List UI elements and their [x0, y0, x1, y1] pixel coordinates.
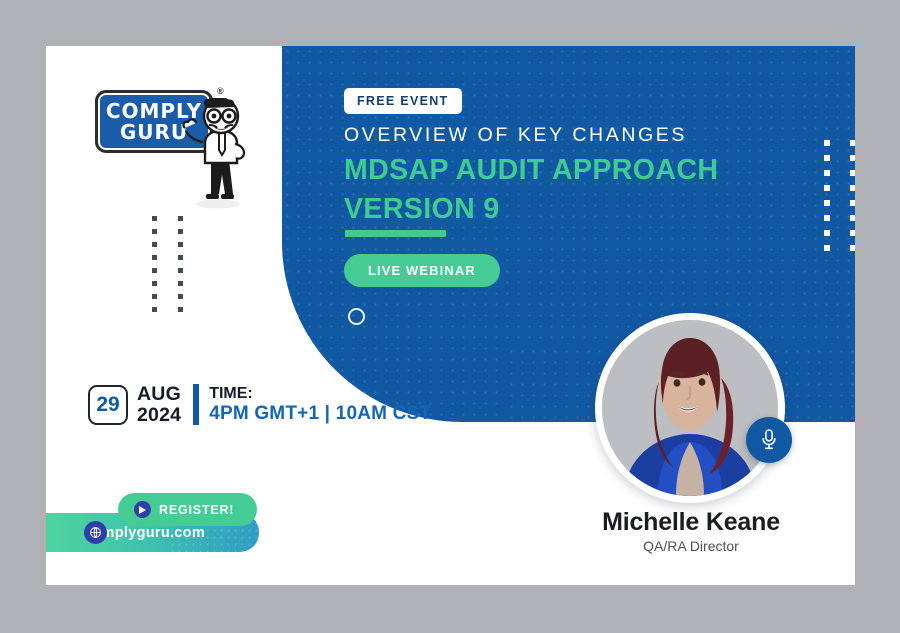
globe-icon [84, 521, 107, 544]
microphone-icon [746, 417, 792, 463]
event-month-year: AUG 2024 [137, 384, 181, 425]
guru-mascot-icon [173, 98, 259, 210]
free-event-badge: FREE EVENT [344, 88, 462, 114]
speaker-photo [602, 320, 778, 496]
speaker-role: QA/RA Director [506, 538, 855, 554]
event-day-box: 29 [88, 385, 128, 425]
live-webinar-badge: LIVE WEBINAR [344, 254, 500, 287]
poster-card: COMPLY GURU ® [46, 46, 855, 585]
decorative-dot-grid-left [152, 216, 188, 312]
time-value: 4PM GMT+1 | 10AM CST [209, 403, 431, 425]
register-button[interactable]: REGISTER! [118, 493, 257, 526]
speaker-name: Michelle Keane [506, 508, 855, 537]
speaker-avatar [595, 313, 785, 503]
event-year: 2024 [137, 405, 181, 426]
headline-underline-rule [345, 230, 446, 237]
time-label: TIME: [209, 385, 431, 403]
datetime-divider [193, 384, 199, 425]
event-month: AUG [137, 384, 181, 405]
hero-headline: MDSAP AUDIT APPROACH VERSION 9 [344, 151, 774, 230]
decorative-ring-circle [348, 308, 365, 325]
poster-canvas: COMPLY GURU ® [0, 0, 900, 633]
event-datetime-block: 29 AUG 2024 TIME: 4PM GMT+1 | 10AM CST [88, 384, 431, 425]
hero-kicker: OVERVIEW OF KEY CHANGES [344, 124, 687, 147]
registered-trademark-symbol: ® [217, 86, 224, 96]
register-button-label: REGISTER! [159, 503, 234, 517]
event-time-group: TIME: 4PM GMT+1 | 10AM CST [209, 385, 431, 425]
play-icon [134, 501, 151, 518]
brand-logo[interactable]: COMPLY GURU ® [95, 80, 285, 215]
decorative-dot-grid-right [824, 140, 855, 251]
